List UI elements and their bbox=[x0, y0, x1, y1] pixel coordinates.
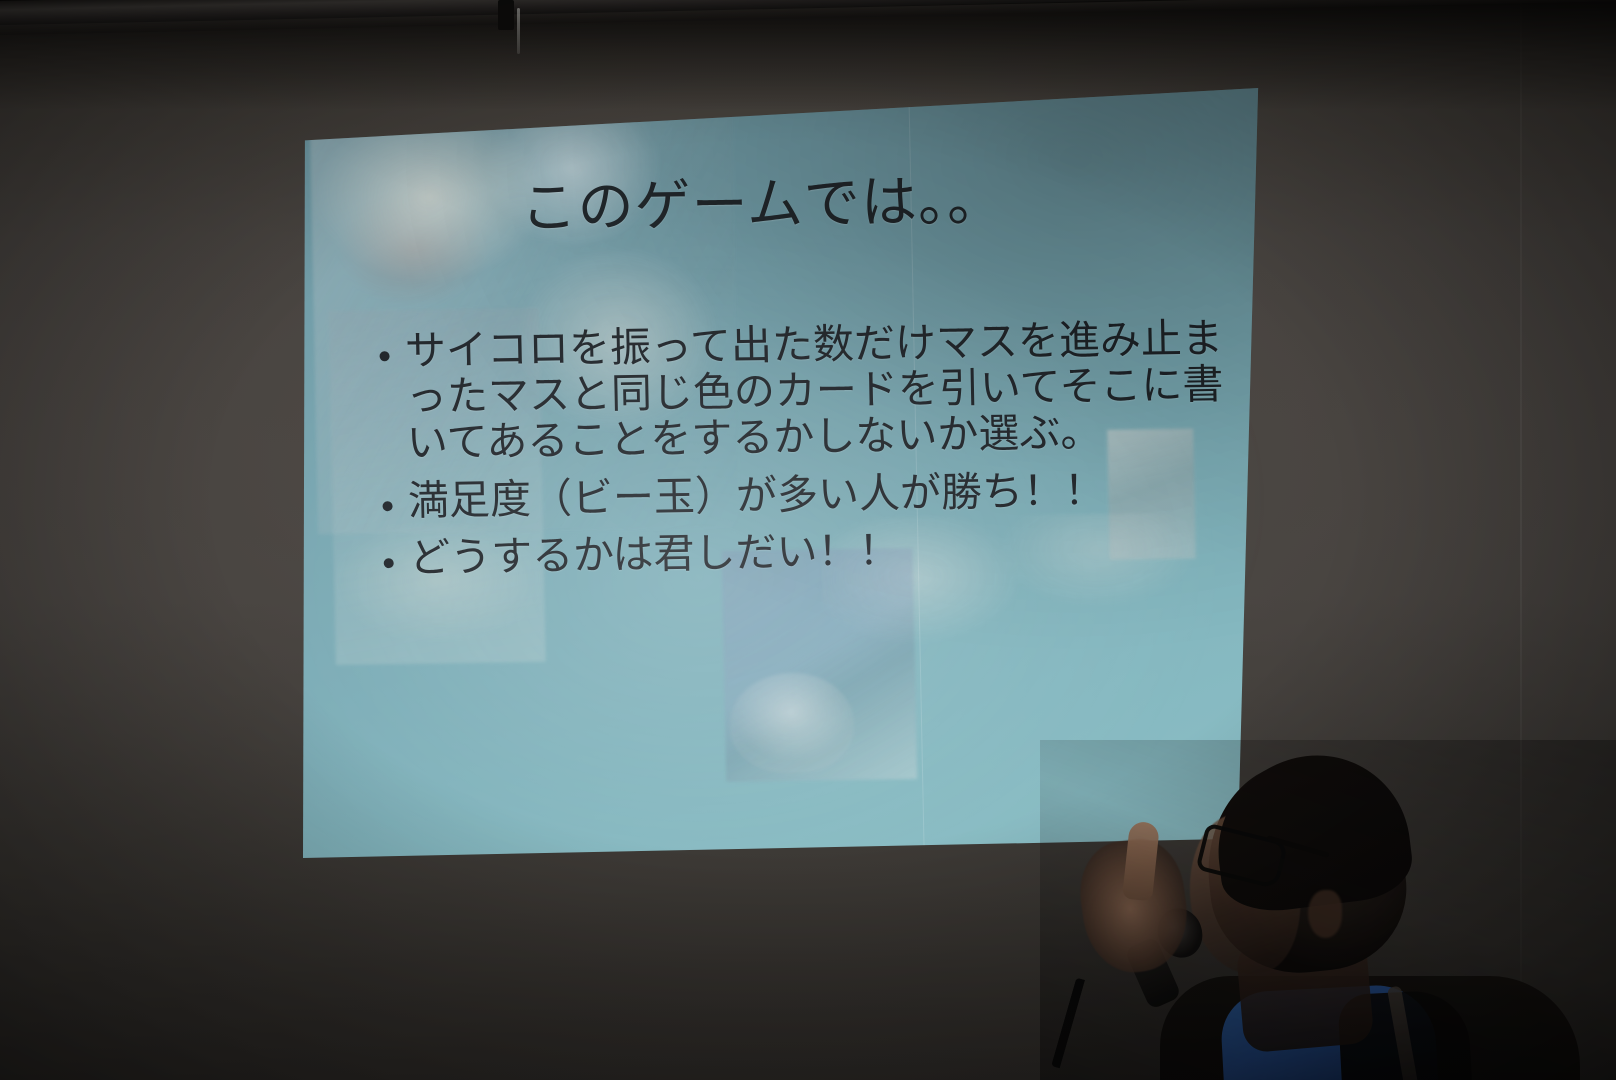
wall-seam bbox=[1520, 0, 1522, 1080]
list-item: 満足度（ビー玉）が多い人が勝ち！！ bbox=[382, 466, 1232, 525]
bullet-text: 満足度（ビー玉）が多い人が勝ち！！ bbox=[408, 466, 1232, 525]
bullet-dot-icon bbox=[383, 559, 393, 569]
projected-slide[interactable]: このゲームでは。。 サイコロを振って出た数だけマスを進み止まったマスと同じ色のカ… bbox=[303, 88, 1261, 858]
list-item: どうするかは君しだい！！ bbox=[383, 523, 1233, 582]
hanging-wire bbox=[517, 8, 520, 54]
pipe-bracket bbox=[498, 0, 514, 30]
slide-bullet-list: サイコロを振って出た数だけマスを進み止まったマスと同じ色のカードを引いてそこに書… bbox=[379, 316, 1233, 595]
bullet-dot-icon bbox=[379, 351, 389, 361]
bullet-dot-icon bbox=[382, 501, 392, 511]
slide-title: このゲームでは。。 bbox=[303, 167, 1227, 243]
slide-content: このゲームでは。。 サイコロを振って出た数だけマスを進み止まったマスと同じ色のカ… bbox=[303, 88, 1261, 858]
faded-photo-white-bowl bbox=[729, 672, 856, 774]
bullet-text: どうするかは君しだい！！ bbox=[409, 523, 1233, 582]
list-item: サイコロを振って出た数だけマスを進み止まったマスと同じ色のカードを引いてそこに書… bbox=[379, 316, 1230, 467]
bullet-text: サイコロを振って出た数だけマスを進み止まったマスと同じ色のカードを引いてそこに書… bbox=[405, 316, 1230, 467]
photo-frame: このゲームでは。。 サイコロを振って出た数だけマスを進み止まったマスと同じ色のカ… bbox=[0, 0, 1616, 1080]
